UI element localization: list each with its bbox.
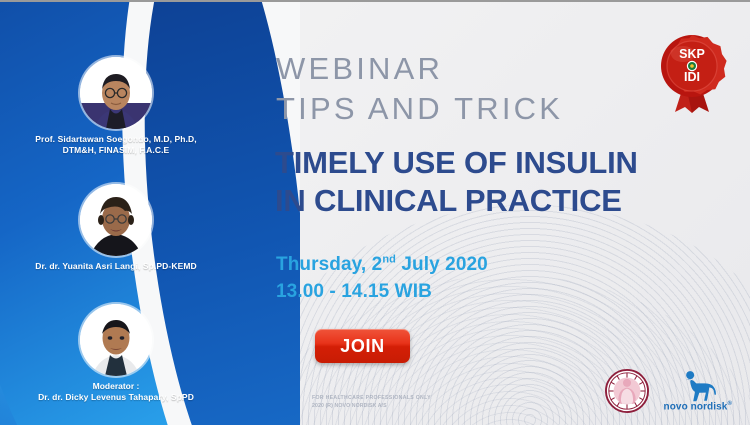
speaker-1-name-line2: DTM&H, FINASIM, F.A.C.E [63,145,170,155]
event-date-prefix: Thursday, 2 [276,254,382,275]
speaker-card-3: Moderator : Dr. dr. Dicky Levenus Tahapa… [0,304,232,404]
fineprint-line-2: 2020 (R) NOVO NORDISK A/S [312,402,431,410]
event-date-ordinal: nd [382,254,396,266]
page-title: TIMELY USE OF INSULIN IN CLINICAL PRACTI… [275,144,638,220]
speaker-2-portrait [80,184,152,256]
join-button[interactable]: JOIN [315,329,410,363]
headline-line-2: IN CLINICAL PRACTICE [275,182,638,220]
moderator-name: Dr. dr. Dicky Levenus Tahapary, SpPD [0,392,232,403]
speaker-card-1: Prof. Sidartawan Soegondo, M.D, Ph.D, DT… [0,57,232,157]
novo-registered-mark: ® [727,401,732,407]
novo-wordmark-text: novo nordisk [663,401,727,412]
sponsor-logos: novo nordisk® [605,369,732,413]
fineprint-line-1: FOR HEALTHCARE PROFESSIONALS ONLY [312,395,431,401]
kicker-line-2: TIPS AND TRICK [276,89,563,129]
perkeni-logo [605,369,649,413]
headline-line-1: TIMELY USE OF INSULIN [275,145,638,180]
moderator-portrait [80,304,152,376]
event-date-suffix: July 2020 [396,254,488,275]
speaker-1-name: Prof. Sidartawan Soegondo, M.D, Ph.D, DT… [0,134,232,157]
speaker-2-name-line1: Dr. dr. Yuanita Asri Langi, Sp.PD-KEMD [35,261,197,271]
event-date: Thursday, 2nd July 2020 [276,254,488,275]
kicker-line-1: WEBINAR [276,51,443,86]
event-datetime: Thursday, 2nd July 2020 13.00 - 14.15 WI… [276,252,488,306]
fineprint-disclaimer: FOR HEALTHCARE PROFESSIONALS ONLY 2020 (… [312,394,431,411]
seal-text-bottom: IDI [684,70,700,84]
moderator-role-label: Moderator : [0,381,232,392]
webinar-poster: Prof. Sidartawan Soegondo, M.D, Ph.D, DT… [0,0,750,425]
apis-bull-icon [671,370,725,402]
skp-idi-seal: SKP IDI [651,28,733,116]
moderator-name-line1: Dr. dr. Dicky Levenus Tahapary, SpPD [38,392,194,402]
event-time: 13.00 - 14.15 WIB [276,279,488,306]
speaker-2-name: Dr. dr. Yuanita Asri Langi, Sp.PD-KEMD [0,261,232,272]
speaker-list: Prof. Sidartawan Soegondo, M.D, Ph.D, DT… [0,2,232,425]
seal-text-top: SKP [679,47,705,61]
speaker-1-portrait [80,57,152,129]
speaker-1-name-line1: Prof. Sidartawan Soegondo, M.D, Ph.D, [35,134,196,144]
novo-nordisk-wordmark: novo nordisk® [663,401,732,412]
novo-nordisk-logo: novo nordisk® [663,370,732,412]
kicker-heading: WEBINAR TIPS AND TRICK [276,49,563,128]
speaker-card-2: Dr. dr. Yuanita Asri Langi, Sp.PD-KEMD [0,184,232,272]
